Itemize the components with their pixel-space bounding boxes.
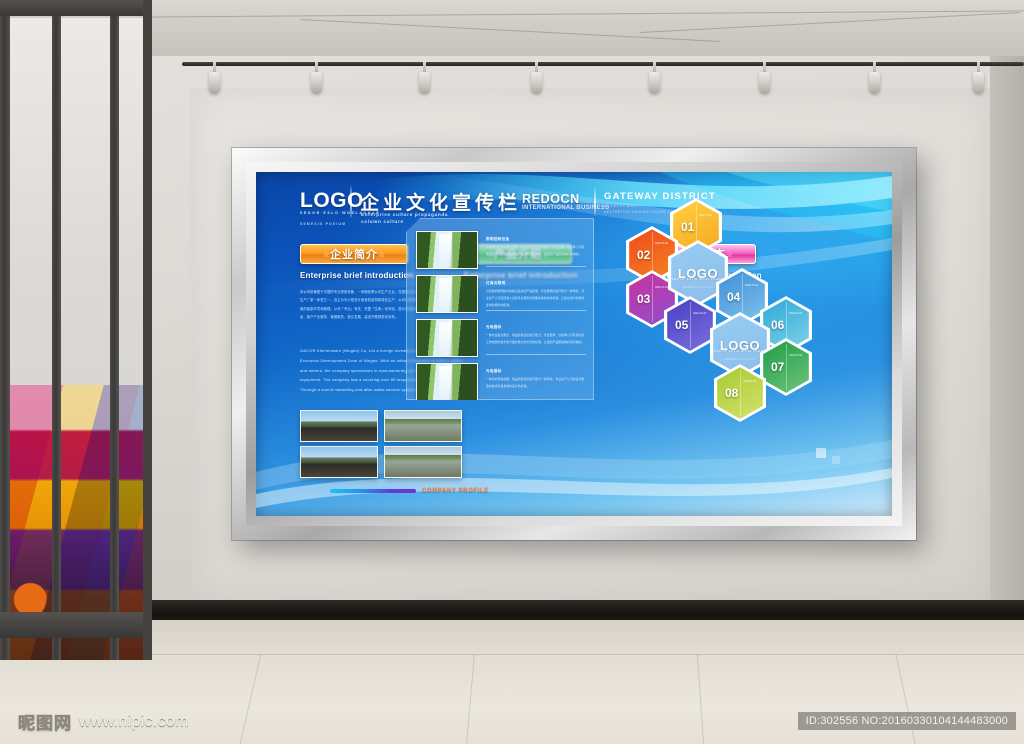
decor-square-2 [832,456,840,464]
product-thumbnail-waterfall [416,319,478,357]
product-row[interactable]: 灯具与照明 高性能的照明技术的超高品质的产品质量，符合要求的运行能力一种特色，专… [416,275,586,313]
hex-number: 01 [681,220,694,234]
section-company-profile[interactable]: ☆ 企业简介 ☆ Enterprise brief introduction [300,244,414,280]
product-body: 一体化设备及服务，用品质保证的运行能力，符合要求，高效率公司有重点的工作成熟的技… [486,332,586,346]
product-row[interactable]: 照明控制设备 高强度的技术成果及装备，用品质保证的运行能力，符合要求，高效率公司… [416,231,586,269]
product-row[interactable]: 光电器标 一体化的特色成果，用品质保证的运行能力一种特色，专业生产公司的设计制造… [416,363,586,401]
banner-label-cn: 企业简介 [330,246,378,262]
product-title: 光电器标 [486,369,502,374]
product-row[interactable]: 光电器标 一体化设备及服务，用品质保证的运行能力，符合要求，高效率公司有重点的工… [416,319,586,357]
ceiling [0,0,1024,62]
profile-footer: COMPANY PROFILE [330,488,489,494]
scene-root: LOGO SEDOR ESLO WOSLADHAR SEMESIS POSIUM… [0,0,1024,744]
hex-number: 05 [675,318,688,332]
profile-image-2 [384,410,462,442]
decor-square-1 [816,448,826,458]
star-icon: ☆ [323,250,330,259]
product-body: 高强度的技术成果及装备，用品质保证的运行能力，符合要求，高效率公司有重点的工作成… [486,244,586,258]
window-wall [0,0,152,660]
product-rule [486,310,586,311]
product-rule [486,354,586,355]
product-thumbnail-waterfall [416,275,478,313]
hex-mini-label: AREA PLAN [743,379,759,384]
section-label-en: Enterprise brief introduction [300,271,414,280]
profile-image-1 [300,410,378,442]
hex-number: 07 [771,360,784,374]
poster-frame[interactable]: LOGO SEDOR ESLO WOSLADHAR SEMESIS POSIUM… [232,148,916,540]
product-list-card: 照明控制设备 高强度的技术成果及装备，用品质保证的运行能力，符合要求，高效率公司… [406,218,594,400]
hex-mini-label: AREA PLAN [655,241,671,246]
hex-08[interactable]: 08 AREA PLAN [714,364,766,422]
poster-title-cn: 企业文化宣传栏 [360,188,521,215]
product-thumbnail-waterfall [416,231,478,269]
poster-artboard[interactable]: LOGO SEDOR ESLO WOSLADHAR SEMESIS POSIUM… [256,172,892,516]
hex-mini-label: AREA PLAN [693,311,709,316]
hex-mini-label: AREA PLAN [699,213,715,218]
progress-bar [330,489,416,493]
company-profile-caption: COMPANY PROFILE [422,488,489,494]
profile-image-3 [300,446,378,478]
header-divider-1 [350,186,352,218]
product-title: 光电器标 [486,325,502,330]
lighting-track [182,62,1024,66]
product-body: 一体化的特色成果，用品质保证的运行能力一种特色，专业生产公司的设计制造的技术标准… [486,376,586,390]
banner-company-profile[interactable]: ☆ 企业简介 ☆ [300,244,408,264]
product-title: 照明控制设备 [486,237,509,242]
profile-image-4 [384,446,462,478]
header-divider-2 [594,188,596,216]
hex-mini-label: AREA PLAN [789,311,805,316]
hex-number: 08 [725,386,738,400]
star-icon: ☆ [378,250,385,259]
redocn-wordmark: REDOCN [522,192,580,206]
hex-mini-label: AREA PLAN [745,283,761,288]
hex-number: 04 [727,290,740,304]
watermark-url: www.nipic.com [79,713,189,731]
product-thumbnail-waterfall [416,363,478,401]
hex-mini-label: AREA PLAN [789,353,805,358]
brand-logo-sub2: SEMESIS POSIUM [300,222,346,226]
hex-number: 06 [771,318,784,332]
wall-right-edge [990,56,1024,626]
hex-number: 02 [637,248,650,262]
redocn-tagline: INTERNATIONAL BUSINESS [522,205,609,211]
product-rule [486,266,586,267]
hex-number: 03 [637,292,650,306]
hexagon-infographic: 01 AREA PLAN 02 AREA PLAN 03 AREA PLAN [604,198,844,414]
brand-logo: LOGO [300,190,364,211]
hex-logo-sub: SEDOR ESLO WOSLADHAR [668,278,728,281]
asset-id-badge: ID:302556 NO:20160330104144483000 [798,712,1016,730]
product-title: 灯具与照明 [486,281,505,286]
product-body: 高性能的照明技术的超高品质的产品质量，符合要求的运行能力一种特色，专业生产公司及… [486,288,586,309]
watermark-site-cn: 昵图网 [18,709,72,734]
watermark: 昵图网 www.nipic.com [18,709,189,734]
